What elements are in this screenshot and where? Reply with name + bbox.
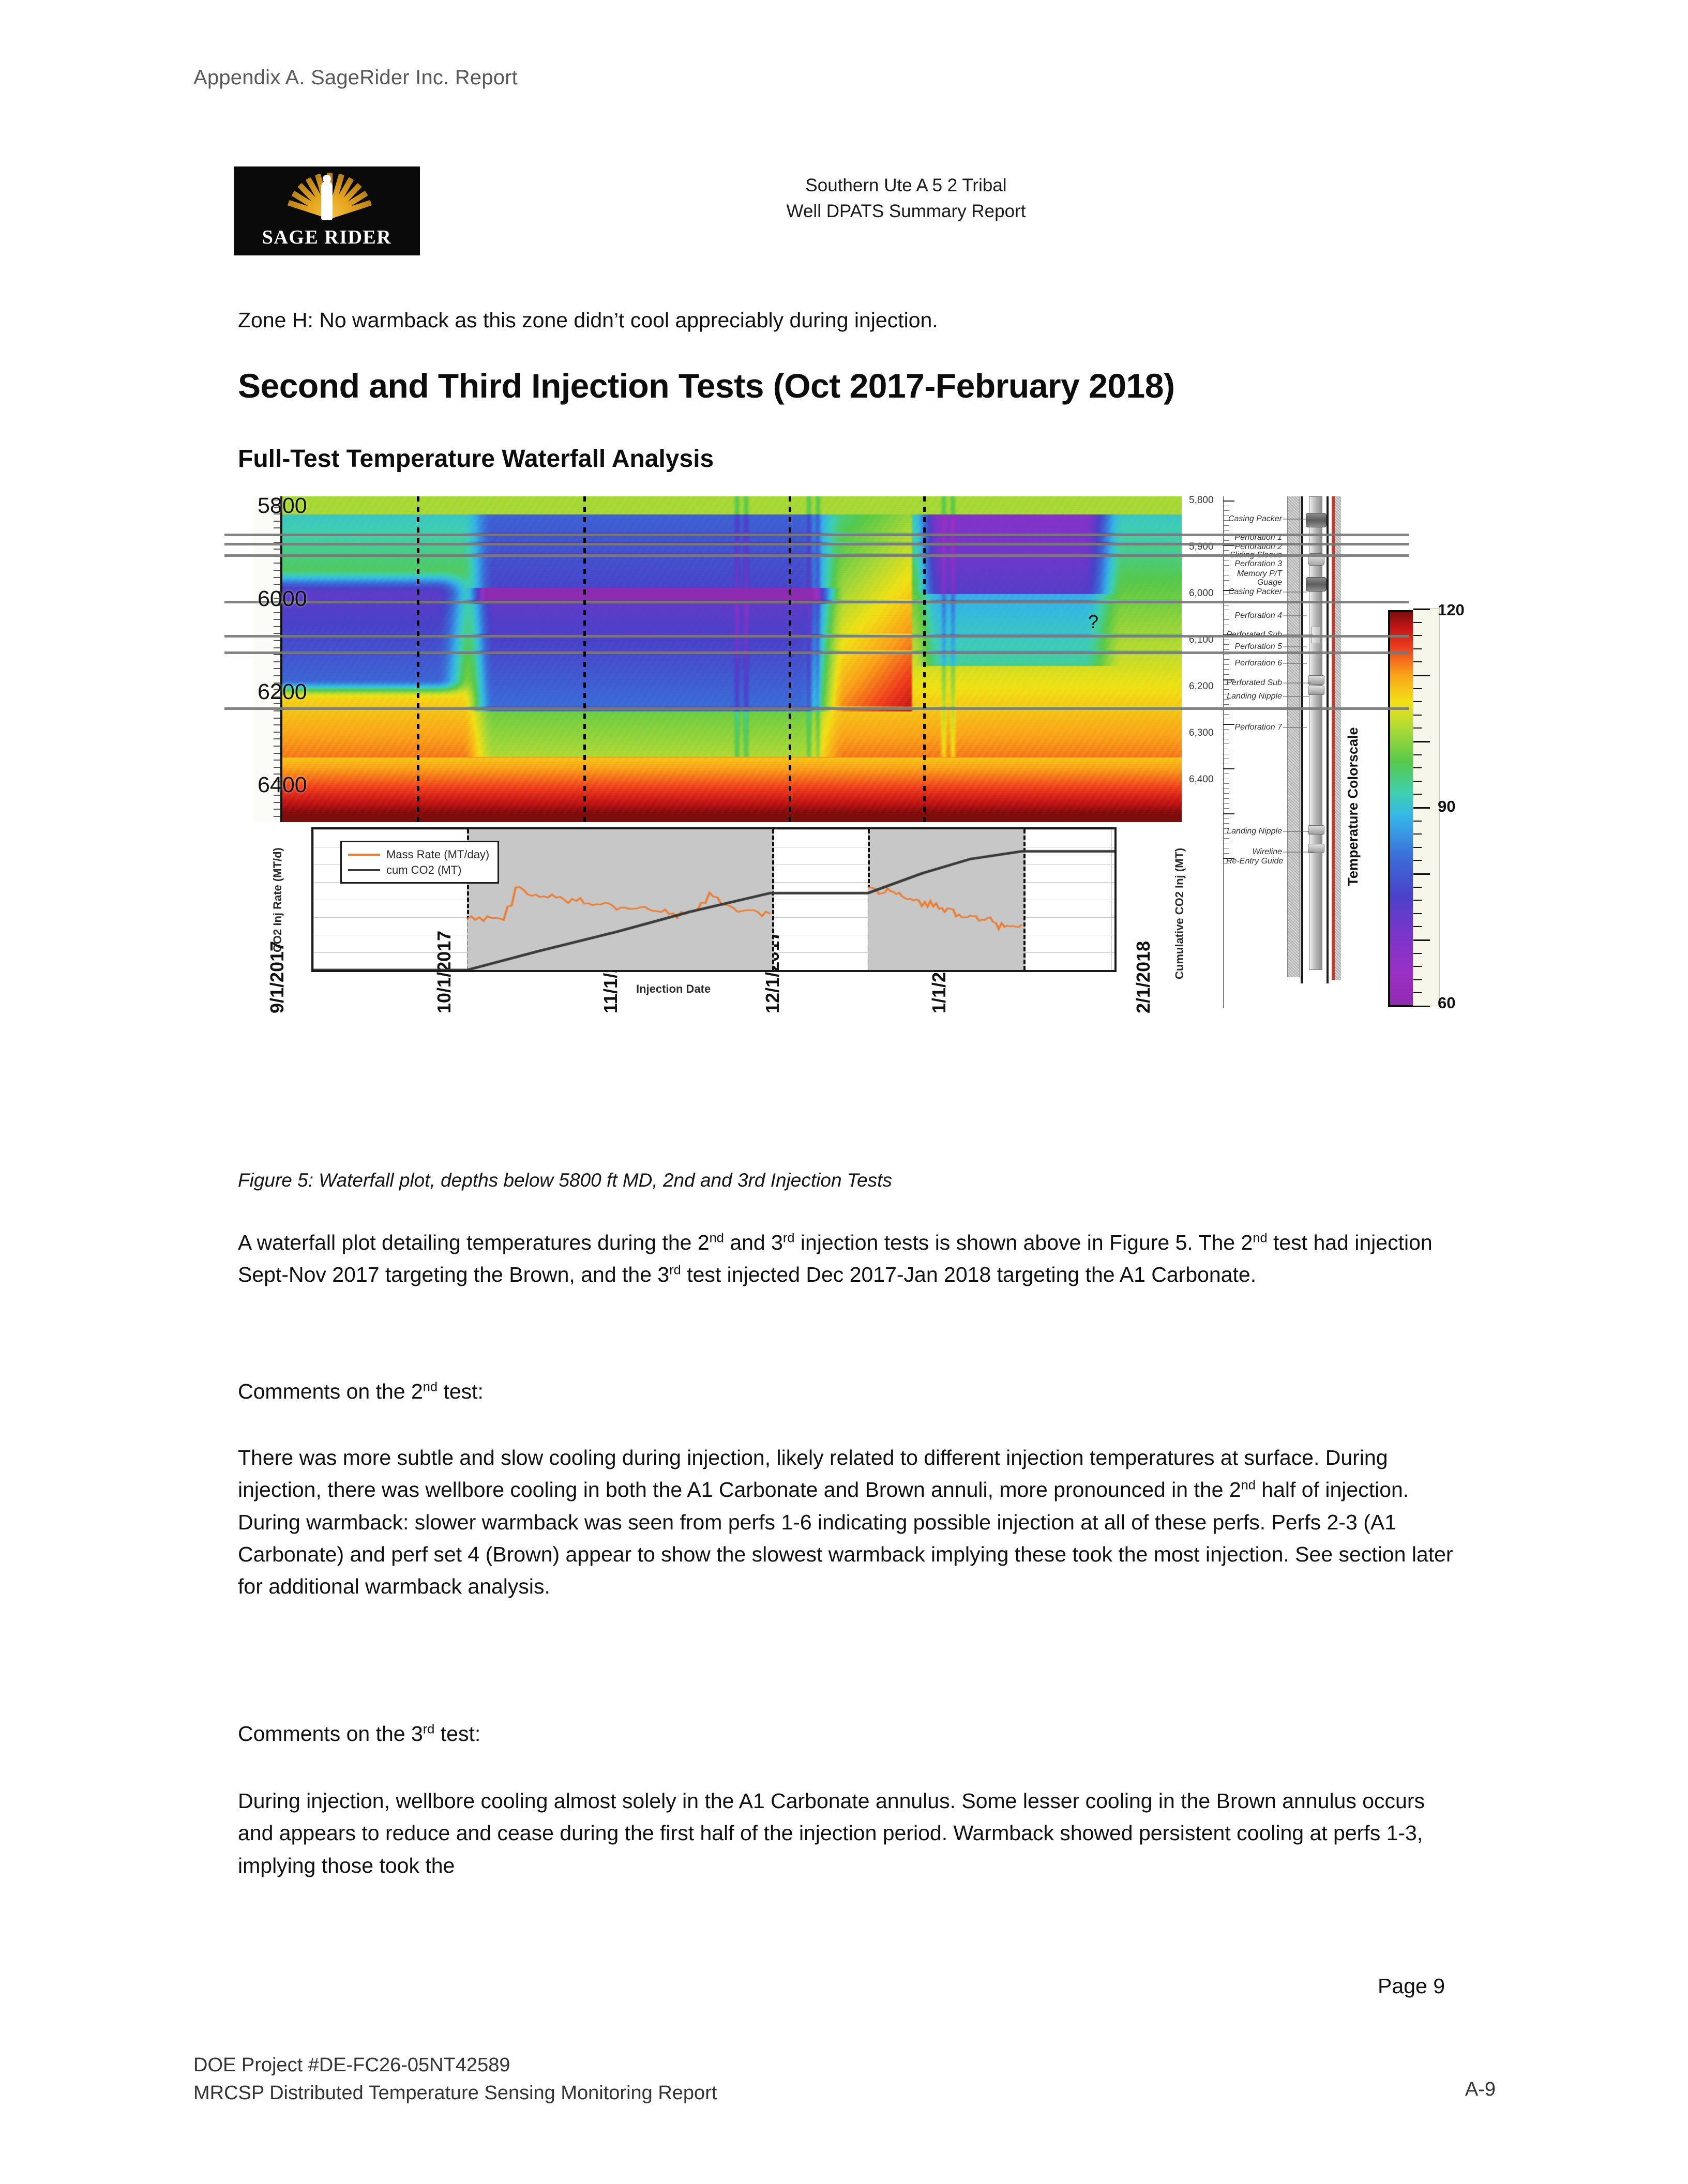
p2-text-b: test:	[438, 1379, 484, 1403]
paragraph-comments-2nd-heading: Comments on the 2nd test:	[238, 1375, 1465, 1407]
p1-text-a: A waterfall plot detailing temperatures …	[238, 1231, 710, 1254]
paragraph-comments-2nd-body: There was more subtle and slow cooling d…	[238, 1442, 1465, 1603]
schem-label-perforation-4: Perforation 4	[1226, 611, 1282, 620]
paragraph-comments-3rd-body: During injection, wellbore cooling almos…	[238, 1785, 1465, 1882]
p1-sup-rd2: rd	[669, 1263, 681, 1278]
perf-line-6	[224, 651, 1409, 654]
paragraph-figure-intro: A waterfall plot detailing temperatures …	[238, 1226, 1465, 1291]
legend-swatch-mass-rate	[348, 854, 380, 856]
p3-sup: nd	[1241, 1478, 1256, 1493]
annular-cement	[1335, 496, 1341, 980]
rate-chart-legend: Mass Rate (MT/day) cum CO2 (MT)	[340, 841, 499, 884]
date-label-9-1-2017: 9/1/2017	[266, 941, 288, 1013]
logo-wordmark: SAGE RIDER	[234, 226, 420, 249]
paragraph-zone-h: Zone H: No warmback as this zone didn’t …	[238, 304, 1465, 336]
p4-text-b: test:	[434, 1722, 480, 1746]
figure-caption: Figure 5: Waterfall plot, depths below 5…	[238, 1170, 892, 1191]
footer-project: DOE Project #DE-FC26-05NT42589	[193, 2052, 717, 2080]
inner-casing-wall	[1327, 496, 1329, 983]
running-head: Appendix A. SageRider Inc. Report	[193, 66, 518, 89]
footer-left: DOE Project #DE-FC26-05NT42589 MRCSP Dis…	[193, 2052, 717, 2107]
page-title: Second and Third Injection Tests (Oct 20…	[238, 366, 1174, 405]
colorscale-label-90: 90	[1438, 797, 1455, 816]
report-title-line2: Well DPATS Summary Report	[596, 199, 1216, 224]
event-line-dec	[789, 496, 791, 822]
colorscale-label-60: 60	[1438, 994, 1455, 1012]
p1-sup-rd: rd	[783, 1231, 795, 1245]
schem-label-reentry-guide: Re-Entry Guide	[1226, 857, 1282, 866]
p3-text-a: There was more subtle and slow cooling d…	[238, 1446, 1388, 1502]
y1-axis-title: CO2 Inj Rate (MT/d)	[271, 847, 284, 952]
subsection-title: Full-Test Temperature Waterfall Analysis	[238, 445, 714, 473]
schem-label-perforated-sub-2: Perforated Sub	[1226, 678, 1282, 688]
p4-sup: rd	[423, 1722, 435, 1736]
schem-label-guage: Guage	[1226, 578, 1282, 587]
schem-label-memory-pt: Memory P/T	[1226, 569, 1282, 579]
perf-line-2	[224, 543, 1409, 545]
casing-packer-lower	[1306, 577, 1327, 591]
logo-rider-figure	[321, 181, 333, 220]
sagerider-logo: SAGE RIDER	[234, 166, 420, 255]
report-title-line1: Southern Ute A 5 2 Tribal	[596, 173, 1216, 199]
report-title: Southern Ute A 5 2 Tribal Well DPATS Sum…	[596, 173, 1216, 224]
footer-report: MRCSP Distributed Temperature Sensing Mo…	[193, 2080, 717, 2107]
landing-nipple-lower	[1308, 825, 1324, 835]
colorscale-label-120: 120	[1438, 601, 1465, 619]
depth-label-6400: 6400	[258, 772, 307, 798]
depth-label-6200: 6200	[258, 679, 307, 705]
annotation-question-mark: ?	[1088, 611, 1098, 633]
event-line-nov	[583, 496, 586, 822]
temperature-colorscale: Temperature Colorscale 120 90 60	[1365, 610, 1448, 1003]
footer-page-code: A-9	[1465, 2079, 1496, 2101]
perf-line-4	[224, 601, 1409, 603]
paragraph-comments-3rd-heading: Comments on the 3rd test:	[238, 1718, 1465, 1750]
schem-depth-6200: 6,200	[1189, 681, 1214, 692]
p1-sup-nd: nd	[710, 1231, 724, 1245]
schem-label-perforation-6: Perforation 6	[1226, 659, 1282, 668]
schem-depth-6000: 6,000	[1189, 588, 1214, 599]
well-schematic: 5,800 5,900 6,000 6,100 6,200 6,300 6,40…	[1186, 496, 1341, 1008]
legend-label-mass-rate: Mass Rate (MT/day)	[386, 847, 489, 862]
p2-text-a: Comments on the 2	[238, 1379, 423, 1403]
document-page: Appendix A. SageRider Inc. Report SAGE R…	[0, 0, 1688, 2184]
schem-label-casing-packer-2: Casing Packer	[1226, 587, 1282, 597]
perf-line-3	[224, 554, 1409, 557]
perf-line-7	[224, 707, 1409, 710]
legend-swatch-cum-co2	[348, 869, 380, 871]
casing-packer-upper	[1306, 513, 1327, 527]
schem-label-perforation-7: Perforation 7	[1226, 723, 1282, 732]
p1-sup-nd2: nd	[1253, 1231, 1267, 1245]
page-number: Page 9	[1378, 1974, 1445, 1998]
p1-text-b: and 3	[724, 1231, 783, 1254]
injection-rate-chart: 80064000 70056000 60048000 50040000 4003…	[253, 823, 1182, 999]
event-line-oct	[417, 496, 419, 822]
schem-label-casing-packer-1: Casing Packer	[1226, 514, 1282, 524]
schem-label-perforation-5: Perforation 5	[1226, 642, 1282, 651]
depth-label-6000: 6000	[258, 586, 307, 612]
event-line-jan	[923, 496, 926, 822]
rate-plot-area: 80064000 70056000 60048000 50040000 4003…	[311, 827, 1117, 972]
outer-cement-sheath	[1287, 496, 1300, 977]
date-label-2-1-2018: 2/1/2018	[1133, 941, 1154, 1013]
legend-item-cum-co2: cum CO2 (MT)	[348, 862, 489, 878]
perforated-sub-lower	[1308, 686, 1324, 695]
p1-text-e: test injected Dec 2017-Jan 2018 targetin…	[681, 1263, 1256, 1286]
colorscale-gradient-bar	[1388, 610, 1415, 1007]
p1-text-c: injection tests is shown above in Figure…	[795, 1231, 1253, 1254]
schem-depth-6300: 6,300	[1189, 727, 1214, 739]
depth-label-5800: 5800	[258, 493, 307, 519]
tubing-string	[1309, 496, 1322, 970]
schem-label-landing-nipple-2: Landing Nipple	[1226, 827, 1282, 836]
schem-label-wireline: Wireline	[1226, 847, 1282, 857]
perf-line-1	[224, 534, 1409, 536]
schematic-depth-ruler	[1223, 496, 1224, 1008]
schem-depth-6400: 6,400	[1189, 774, 1214, 785]
perf-line-5	[224, 635, 1409, 638]
figure-5-waterfall: 5800 6000 6200 6400 ? 80064000 700	[235, 496, 1445, 1143]
colorscale-ruler	[1413, 608, 1440, 1006]
legend-label-cum-co2: cum CO2 (MT)	[386, 862, 461, 878]
legend-item-mass-rate: Mass Rate (MT/day)	[348, 847, 489, 862]
x-axis-title: Injection Date	[636, 982, 711, 996]
waterfall-heatmap: 5800 6000 6200 6400 ?	[253, 496, 1182, 822]
schem-depth-5800: 5,800	[1189, 495, 1214, 506]
report-header: SAGE RIDER Southern Ute A 5 2 Tribal Wel…	[234, 166, 1423, 265]
p2-sup: nd	[423, 1379, 438, 1394]
schem-label-landing-nipple-1: Landing Nipple	[1226, 692, 1282, 701]
schem-label-perforation-3: Perforation 3	[1226, 559, 1282, 569]
y2-axis-title: Cumulative CO2 Inj (MT)	[1173, 848, 1186, 979]
colorscale-title: Temperature Colorscale	[1345, 727, 1361, 886]
casing-wall	[1301, 496, 1303, 983]
p4-text-a: Comments on the 3	[238, 1722, 423, 1746]
